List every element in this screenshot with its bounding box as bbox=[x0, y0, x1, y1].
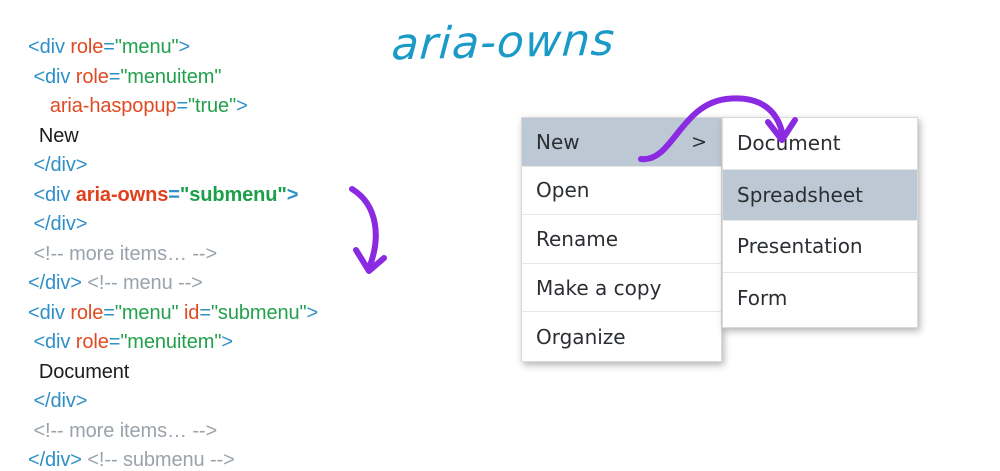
menu-primary[interactable]: New>OpenRenameMake a copyOrganize bbox=[521, 117, 722, 362]
code-token-tag: > bbox=[221, 331, 233, 353]
code-token-val: "menu" bbox=[115, 302, 179, 324]
code-token-tag: </div> bbox=[28, 449, 82, 471]
code-token-tag: <div bbox=[28, 36, 70, 58]
menu-item-label: Form bbox=[737, 288, 787, 308]
code-token-text: Document bbox=[28, 361, 129, 383]
code-token-text: New bbox=[28, 125, 79, 147]
code-token-val: "true" bbox=[188, 95, 236, 117]
code-token-tag: <div bbox=[28, 302, 70, 324]
code-line: New bbox=[28, 122, 458, 152]
menu-item-presentation[interactable]: Presentation bbox=[723, 221, 917, 273]
code-line: </div> <!-- menu --> bbox=[28, 269, 458, 299]
code-line: </div> bbox=[28, 387, 458, 417]
code-token-val: "menuitem" bbox=[120, 331, 221, 353]
code-token-eq: = bbox=[176, 95, 188, 117]
diagram-canvas: <div role="menu"> <div role="menuitem" a… bbox=[0, 0, 1000, 471]
code-line: <div aria-owns="submenu"> bbox=[28, 181, 458, 211]
code-token-comment: <!-- more items… --> bbox=[28, 243, 217, 265]
menu-item-label: Document bbox=[737, 133, 841, 153]
code-token-attr: role bbox=[70, 302, 103, 324]
code-line: Document bbox=[28, 358, 458, 388]
code-token-val: "menu" bbox=[115, 36, 179, 58]
code-token-comment: <!-- menu --> bbox=[82, 272, 203, 294]
code-token-comment: <!-- submenu --> bbox=[82, 449, 235, 471]
menu-item-label: New bbox=[536, 132, 580, 152]
code-token-tag: > bbox=[287, 184, 299, 206]
code-token-tag: <div bbox=[28, 66, 76, 88]
menu-item-rename[interactable]: Rename bbox=[522, 215, 721, 264]
code-token-eq: = bbox=[109, 66, 121, 88]
code-token-tag: <div bbox=[28, 184, 76, 206]
menu-item-make-a-copy[interactable]: Make a copy bbox=[522, 264, 721, 313]
code-token-comment: <!-- more items… --> bbox=[28, 420, 217, 442]
code-token-val: "menuitem" bbox=[120, 66, 221, 88]
code-token-attr: role bbox=[76, 331, 109, 353]
code-line: aria-haspopup="true"> bbox=[28, 92, 458, 122]
menu-item-open[interactable]: Open bbox=[522, 167, 721, 216]
code-token-val: "submenu" bbox=[180, 184, 287, 206]
code-token-tag: <div bbox=[28, 331, 76, 353]
code-token-tag: </div> bbox=[28, 390, 87, 412]
menu-item-spreadsheet[interactable]: Spreadsheet bbox=[723, 170, 917, 222]
menu-item-label: Spreadsheet bbox=[737, 185, 863, 205]
code-token-tag: > bbox=[307, 302, 319, 324]
code-token-val: "submenu" bbox=[211, 302, 307, 324]
code-token-tag: </div> bbox=[28, 213, 87, 235]
menu-item-document[interactable]: Document bbox=[723, 118, 917, 170]
code-token-eq: = bbox=[103, 36, 115, 58]
code-token-attr: role bbox=[70, 36, 103, 58]
code-token-tag: </div> bbox=[28, 272, 82, 294]
code-token-eq: = bbox=[168, 184, 180, 206]
code-token-attr: aria-haspopup bbox=[50, 95, 177, 117]
submenu-chevron-icon: > bbox=[691, 131, 707, 153]
menu-item-label: Make a copy bbox=[536, 278, 661, 298]
menu-item-label: Open bbox=[536, 180, 589, 200]
code-token-attr: aria-owns bbox=[76, 184, 168, 206]
code-line: </div> bbox=[28, 210, 458, 240]
code-line: </div> bbox=[28, 151, 458, 181]
code-line: <!-- more items… --> bbox=[28, 240, 458, 270]
code-line: <!-- more items… --> bbox=[28, 417, 458, 447]
code-token-eq: = bbox=[109, 331, 121, 353]
code-token-tag: </div> bbox=[28, 154, 87, 176]
code-line: <div role="menuitem"> bbox=[28, 328, 458, 358]
code-token-eq: = bbox=[199, 302, 211, 324]
code-token-eq: = bbox=[103, 302, 115, 324]
menu-item-label: Organize bbox=[536, 327, 626, 347]
menu-item-label: Presentation bbox=[737, 236, 863, 256]
code-token-attr: role bbox=[76, 66, 109, 88]
code-token-tag bbox=[28, 95, 50, 117]
menu-item-new[interactable]: New> bbox=[522, 118, 721, 167]
code-line: <div role="menu" id="submenu"> bbox=[28, 299, 458, 329]
code-line: </div> <!-- submenu --> bbox=[28, 446, 458, 471]
code-token-attr: id bbox=[184, 302, 199, 324]
page-title: aria-owns bbox=[390, 15, 617, 71]
code-token-tag: > bbox=[179, 36, 191, 58]
menu-item-label: Rename bbox=[536, 229, 618, 249]
code-listing: <div role="menu"> <div role="menuitem" a… bbox=[28, 33, 458, 471]
menu-item-organize[interactable]: Organize bbox=[522, 312, 721, 361]
menu-item-form[interactable]: Form bbox=[723, 273, 917, 325]
menu-submenu[interactable]: DocumentSpreadsheetPresentationForm bbox=[722, 117, 918, 328]
code-token-tag: > bbox=[236, 95, 248, 117]
